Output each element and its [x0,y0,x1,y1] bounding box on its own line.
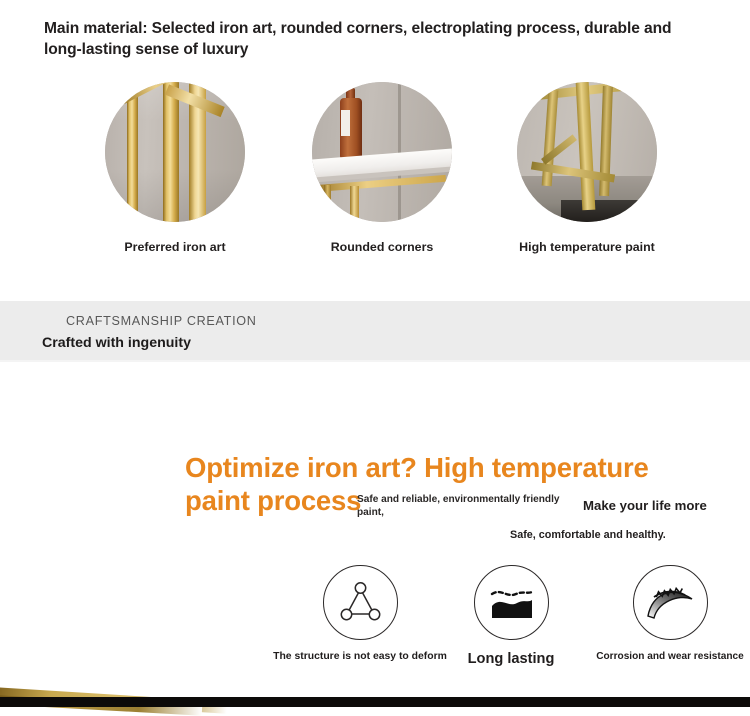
feature-row: The structure is not easy to deform Long… [0,565,750,680]
feature-item-long-lasting[interactable]: Long lasting [452,565,570,667]
feature-caption-long-lasting: Long lasting [452,651,570,667]
wave-layer-icon [474,565,549,640]
material-circle-item-3[interactable]: High temperature paint [517,82,657,254]
material-circle-caption-1: Preferred iron art [105,240,245,254]
material-circle-item-2[interactable]: Rounded corners [312,82,452,254]
material-circle-row: Preferred iron art Rounded corners [0,82,750,257]
craftsmanship-eyebrow: CRAFTSMANSHIP CREATION [66,314,257,328]
material-heading: Main material: Selected iron art, rounde… [44,19,694,60]
process-subtext-bottom: Safe, comfortable and healthy. [510,529,666,541]
gold-frame-corner-photo [105,82,245,222]
process-subtext-left: Safe and reliable, environmentally frien… [357,493,572,520]
marble-shelf-rounded-corner-photo [312,82,452,222]
process-subtext-right: Make your life more [583,498,707,513]
material-circle-caption-2: Rounded corners [312,240,452,254]
material-circle-caption-3: High temperature paint [517,240,657,254]
feature-caption-corrosion: Corrosion and wear resistance [590,651,750,662]
feature-item-structure[interactable]: The structure is not easy to deform [265,565,455,662]
craftsmanship-title: Crafted with ingenuity [42,335,191,351]
triangle-nodes-icon [323,565,398,640]
toothed-arc-icon [633,565,708,640]
material-circle-item-1[interactable]: Preferred iron art [105,82,245,254]
material-section: Main material: Selected iron art, rounde… [0,0,750,301]
feature-caption-structure: The structure is not easy to deform [265,651,455,662]
bottom-black-strip [0,697,750,707]
feature-item-corrosion[interactable]: Corrosion and wear resistance [590,565,750,662]
gold-table-legs-photo [517,82,657,222]
process-section: Optimize iron art? High temperature pain… [0,362,750,707]
craftsmanship-band: CRAFTSMANSHIP CREATION Crafted with inge… [0,301,750,362]
